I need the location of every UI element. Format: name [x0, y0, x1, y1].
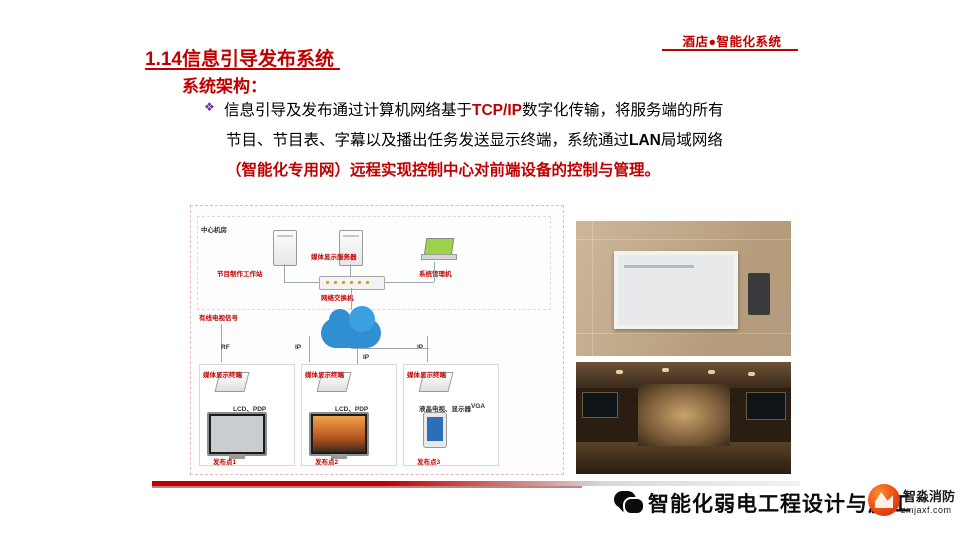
- diagram-label-terminal2: 媒体显示终端: [305, 369, 344, 379]
- para-tcpip: TCP/IP: [472, 102, 522, 119]
- brand-logo: 智淼消防 zmjaxf.com: [868, 484, 946, 530]
- logo-mark-icon: [868, 484, 900, 516]
- para-line2-c: 局域网络: [661, 132, 723, 149]
- system-architecture-diagram: 中心机房 媒体显示服务器 节目制作工作站 系统管理机 网络交换机: [190, 205, 564, 475]
- logo-url: zmjaxf.com: [901, 505, 952, 515]
- para-line1-c: 数字化传输，将服务端的所有: [522, 102, 724, 119]
- wechat-icon: [614, 489, 642, 513]
- link-cloud-term1: [309, 336, 310, 362]
- page-subtitle: 系统架构：: [182, 72, 267, 97]
- link-cloud-bus: [351, 348, 429, 349]
- para-private-net: 智能化专用网: [242, 162, 335, 179]
- display-3-icon: [423, 412, 447, 448]
- bullet-marker-icon: ❖: [204, 100, 215, 114]
- link-catv-down: [221, 324, 222, 362]
- para-lan: LAN: [629, 132, 661, 149]
- display-2-icon: [309, 412, 369, 456]
- header-brand: 酒店●智能化系统: [662, 31, 802, 50]
- diagram-label-point2: 发布点2: [315, 456, 338, 466]
- diagram-label-ip1: IP: [295, 344, 301, 351]
- photo-corridor-displays: [576, 362, 791, 474]
- slide: 酒店●智能化系统 1.14信息引导发布系统 系统架构： ❖ 信息引导及发布通过计…: [0, 0, 960, 540]
- network-cloud-icon: [321, 318, 381, 348]
- para-line3-a: （: [226, 162, 242, 179]
- footer-divider-secondary: [152, 486, 582, 488]
- logo-name: 智淼消防: [903, 486, 955, 505]
- para-line3-c: ）远程实现控制中心对前端设备的控制与管理。: [335, 162, 661, 179]
- link-cloud-term3: [427, 336, 428, 362]
- diagram-label-rf: RF: [221, 344, 230, 351]
- diagram-label-catv: 有线电视信号: [199, 312, 238, 322]
- diagram-label-terminal3: 媒体显示终端: [407, 369, 446, 379]
- diagram-label-vga: VGA: [471, 403, 485, 410]
- diagram-label-terminal1: 媒体显示终端: [203, 369, 242, 379]
- title-underline: [145, 68, 340, 70]
- diagram-label-point1: 发布点1: [213, 456, 236, 466]
- diagram-label-ip2: IP: [363, 354, 369, 361]
- body-paragraph: 信息引导及发布通过计算机网络基于TCP/IP数字化传输，将服务端的所有节目、节目…: [204, 96, 790, 186]
- photo-wall-display: [576, 221, 791, 356]
- para-line2-a: 节目、节目表、字幕以及播出任务发送显示终端，系统通过: [226, 132, 629, 149]
- page-title: 1.14信息引导发布系统: [145, 44, 334, 71]
- para-line1-a: 信息引导及发布通过计算机网络基于: [224, 102, 472, 119]
- link-switch-cloud: [351, 288, 352, 310]
- diagram-label-point3: 发布点3: [417, 456, 440, 466]
- bullet-block: ❖ 信息引导及发布通过计算机网络基于TCP/IP数字化传输，将服务端的所有节目、…: [204, 96, 790, 186]
- display-1-icon: [207, 412, 267, 456]
- header-rule: [662, 49, 798, 51]
- center-room-frame: [197, 216, 551, 310]
